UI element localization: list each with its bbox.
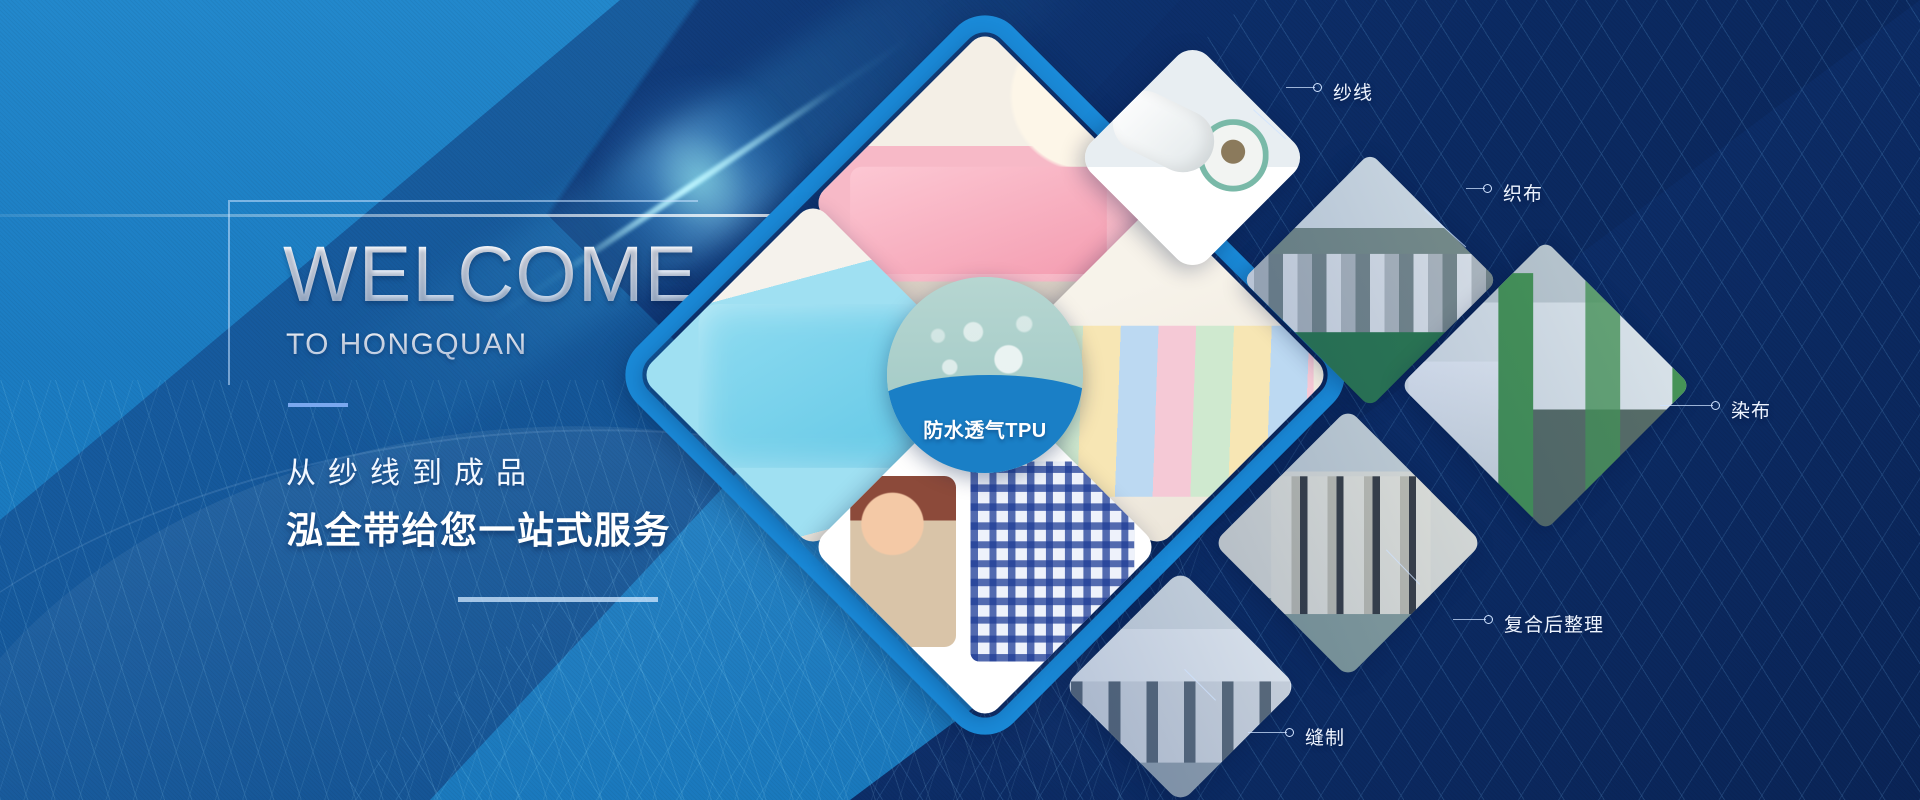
hero-banner: WELCOME TO HONGQUAN 从纱线到成品 泓全带给您一站式服务 防水…: [0, 0, 1920, 800]
callout-dot-weaving: [1483, 184, 1492, 193]
leader-line-lamination: [1453, 619, 1486, 620]
leader-line-yarn: [1286, 87, 1315, 88]
process-label-sewing: 缝制: [1305, 723, 1345, 750]
process-label-weaving: 织布: [1503, 179, 1543, 206]
process-label-dyeing: 染布: [1731, 396, 1771, 423]
accent-tick: [288, 403, 348, 407]
callout-dot-yarn: [1313, 83, 1322, 92]
callout-dot-lamination: [1484, 615, 1493, 624]
leader-line-dyeing: [1660, 405, 1713, 406]
tagline-chinese: 从纱线到成品: [286, 448, 538, 492]
tpu-feature-badge: 防水透气TPU: [887, 277, 1083, 473]
headline-chinese: 泓全带给您一站式服务: [286, 500, 671, 554]
leader-line-sewing: [1248, 732, 1287, 733]
tpu-badge-label: 防水透气TPU: [887, 414, 1083, 443]
bottom-accent-line: [458, 597, 658, 602]
page-subtitle: TO HONGQUAN: [286, 328, 528, 362]
process-label-lamination: 复合后整理: [1504, 610, 1604, 637]
callout-dot-sewing: [1285, 728, 1294, 737]
process-label-yarn: 纱线: [1333, 78, 1373, 105]
callout-dot-dyeing: [1711, 401, 1720, 410]
page-title: WELCOME: [283, 235, 698, 312]
